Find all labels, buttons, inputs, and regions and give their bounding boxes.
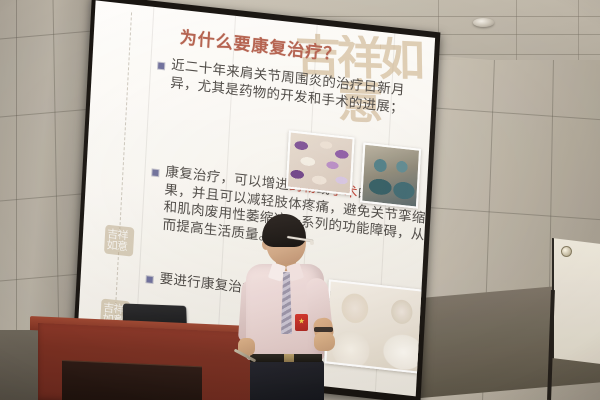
podium-front-panel: [62, 360, 202, 400]
speaker-belt-buckle: [284, 354, 294, 362]
whiteboard: [552, 238, 600, 364]
seal-text: 吉祥如意: [106, 228, 132, 253]
speaker-pants: [250, 360, 324, 400]
speaker: [232, 214, 344, 400]
speaker-badge-icon: [295, 314, 308, 331]
lecture-hall-photo: 吉祥如意 吉祥如意 吉祥如意 为什么要康复治疗？ 近二十年来肩关节周围炎的治疗日…: [0, 0, 600, 400]
headset-mic-tip-icon: [310, 241, 314, 245]
slide-photo-pills: [286, 130, 355, 195]
bullet-square-icon: [146, 276, 152, 283]
whiteboard-knob-icon: [561, 246, 572, 257]
slide-photo-surgery: [360, 142, 421, 208]
bullet-square-icon: [158, 63, 164, 70]
ceiling-light-icon: [473, 18, 494, 27]
slide-bullet-1: 近二十年来肩关节周围炎的治疗日新月异，尤其是药物的开发和手术的进展；: [157, 56, 428, 121]
speaker-hair: [262, 214, 306, 247]
bullet-square-icon: [152, 169, 158, 176]
speaker-right-fist: [314, 332, 335, 351]
slide-bullet-1-text: 近二十年来肩关节周围炎的治疗日新月异，尤其是药物的开发和手术的进展；: [170, 57, 428, 120]
slide-seal-stamp-top: 吉祥如意: [104, 225, 134, 257]
